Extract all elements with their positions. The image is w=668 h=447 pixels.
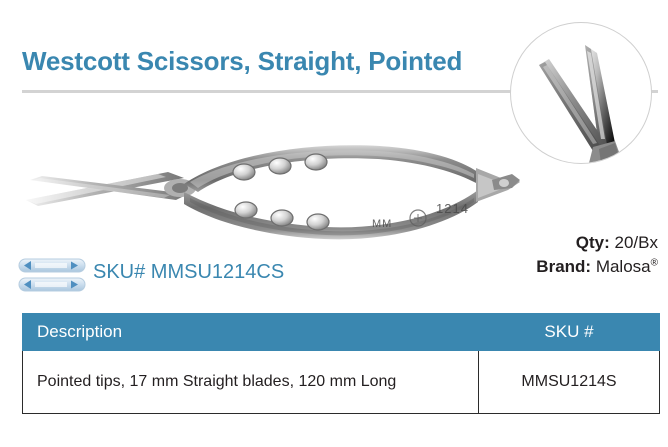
- brand-value: Malosa: [596, 257, 651, 276]
- column-header-sku: SKU #: [479, 314, 660, 351]
- magnified-tips-icon: [510, 22, 652, 164]
- page-title: Westcott Scissors, Straight, Pointed: [22, 46, 462, 77]
- scissors-photo: MM 1214: [8, 128, 528, 246]
- sku-label: SKU# MMSU1214CS: [93, 261, 284, 284]
- brand-label: Brand:: [536, 257, 591, 276]
- sterile-pouch-icon: [18, 257, 90, 295]
- column-header-description: Description: [23, 314, 479, 351]
- table-header-row: Description SKU #: [23, 314, 660, 351]
- svg-text:MM: MM: [372, 218, 392, 230]
- product-meta: Qty: 20/Bx Brand: Malosa®: [536, 231, 658, 279]
- qty-label: Qty:: [576, 233, 610, 252]
- qty-row: Qty: 20/Bx: [536, 231, 658, 255]
- registered-mark: ®: [651, 257, 658, 268]
- spec-table: Description SKU # Pointed tips, 17 mm St…: [22, 313, 660, 414]
- cell-description: Pointed tips, 17 mm Straight blades, 120…: [23, 351, 479, 414]
- qty-value: 20/Bx: [615, 233, 658, 252]
- table-row: Pointed tips, 17 mm Straight blades, 120…: [23, 351, 660, 414]
- cell-sku: MMSU1214S: [479, 351, 660, 414]
- brand-row: Brand: Malosa®: [536, 255, 658, 279]
- svg-text:1214: 1214: [436, 201, 469, 216]
